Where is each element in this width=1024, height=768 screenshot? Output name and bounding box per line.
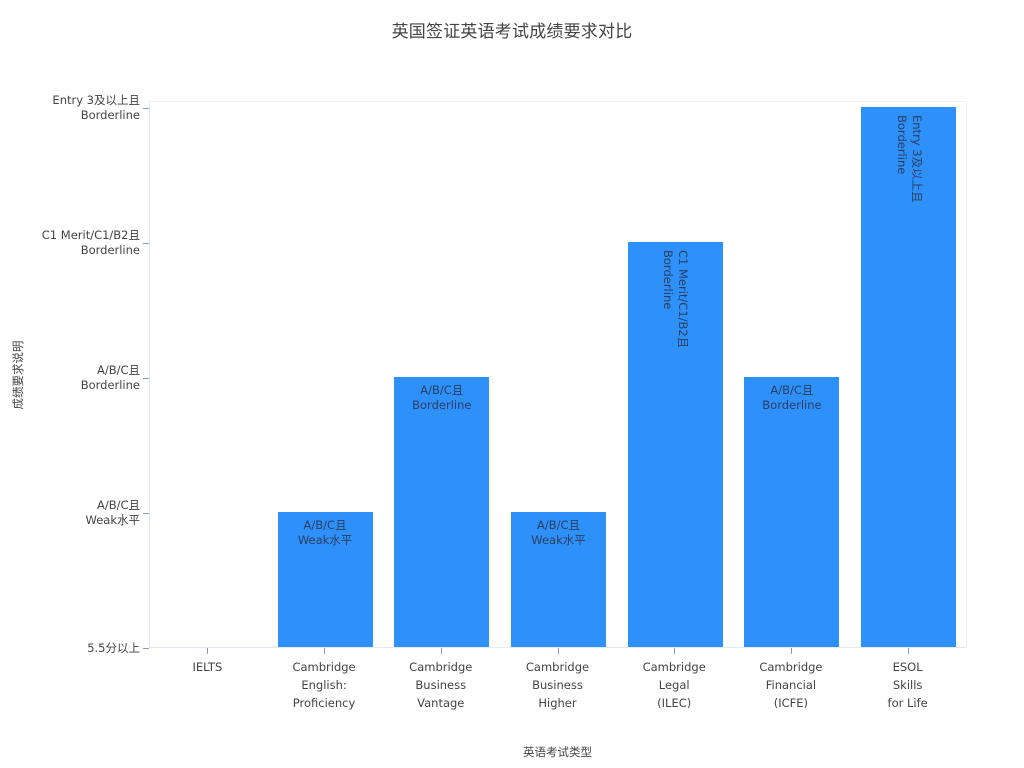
- bar[interactable]: Entry 3及以上且Borderline: [861, 107, 956, 647]
- y-tick-label: Entry 3及以上且Borderline: [52, 93, 140, 123]
- bar-value-label: A/B/C且Borderline: [744, 383, 839, 413]
- bar-value-label: Entry 3及以上且Borderline: [894, 115, 924, 203]
- x-tick-label[interactable]: CambridgeEnglish:Proficiency: [266, 658, 383, 712]
- x-axis-title: 英语考试类型: [149, 744, 966, 760]
- y-tick-label: A/B/C且Weak水平: [86, 498, 140, 528]
- bar[interactable]: A/B/C且Weak水平: [278, 512, 373, 647]
- x-tick-label[interactable]: CambridgeBusinessVantage: [382, 658, 499, 712]
- chart-title: 英国签证英语考试成绩要求对比: [0, 17, 1024, 42]
- bar-value-label: A/B/C且Weak水平: [511, 518, 606, 548]
- y-axis-title: 成绩要求说明: [10, 340, 26, 409]
- bar[interactable]: A/B/C且Borderline: [394, 377, 489, 647]
- y-tick-label: A/B/C且Borderline: [81, 363, 140, 393]
- x-tick-mark: [324, 648, 325, 654]
- x-tick-label[interactable]: CambridgeFinancial(ICFE): [733, 658, 850, 712]
- plot-frame-top: [149, 101, 966, 102]
- x-tick-label[interactable]: IELTS: [149, 658, 266, 676]
- plot-area: A/B/C且Weak水平A/B/C且BorderlineA/B/C且Weak水平…: [149, 101, 966, 648]
- bar-value-label: A/B/C且Borderline: [394, 383, 489, 413]
- bar[interactable]: A/B/C且Borderline: [744, 377, 839, 647]
- bar-chart: 英国签证英语考试成绩要求对比 成绩要求说明 5.5分以上A/B/C且Weak水平…: [0, 0, 1024, 768]
- x-tick-label[interactable]: CambridgeBusinessHigher: [499, 658, 616, 712]
- y-tick-label: 5.5分以上: [87, 641, 140, 656]
- x-tick-mark: [207, 648, 208, 654]
- bar[interactable]: C1 Merit/C1/B2且Borderline: [628, 242, 723, 647]
- x-tick-label[interactable]: ESOLSkillsfor Life: [849, 658, 966, 712]
- x-tick-mark: [441, 648, 442, 654]
- bar[interactable]: A/B/C且Weak水平: [511, 512, 606, 647]
- x-tick-mark: [908, 648, 909, 654]
- y-tick-mark: [143, 648, 149, 649]
- bar-value-label: C1 Merit/C1/B2且Borderline: [660, 250, 690, 348]
- x-tick-mark: [791, 648, 792, 654]
- y-tick-label: C1 Merit/C1/B2且Borderline: [42, 228, 140, 258]
- x-tick-label[interactable]: CambridgeLegal(ILEC): [616, 658, 733, 712]
- plot-frame-right: [966, 101, 967, 648]
- bar-value-label: A/B/C且Weak水平: [278, 518, 373, 548]
- x-tick-mark: [674, 648, 675, 654]
- x-tick-mark: [558, 648, 559, 654]
